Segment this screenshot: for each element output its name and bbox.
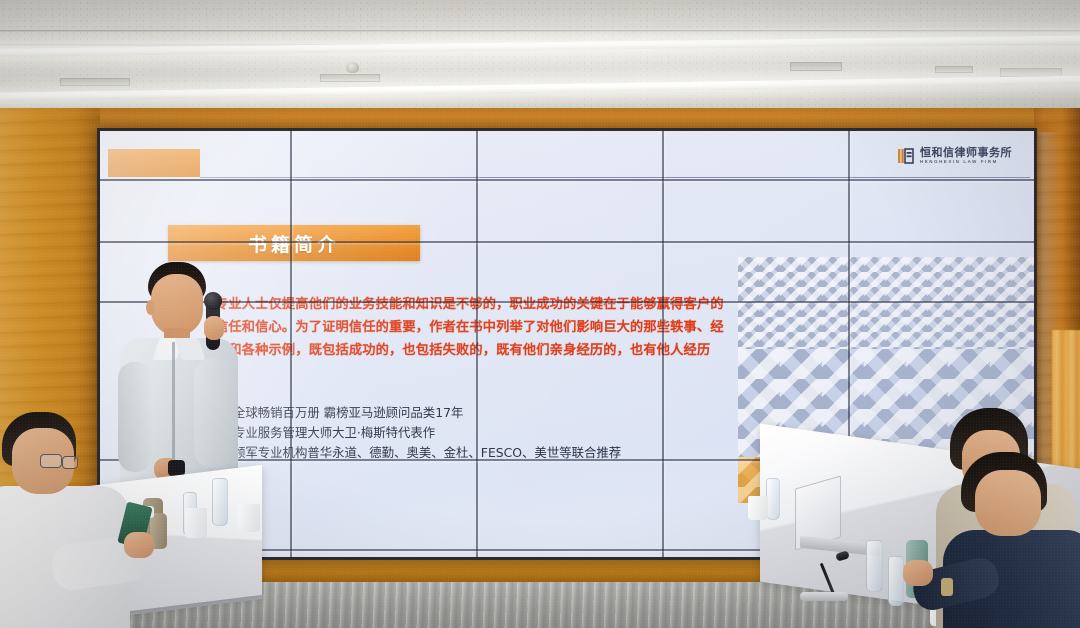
slide-header-rule (200, 177, 1030, 178)
paper-cup (748, 496, 768, 520)
geometric-pattern-fine (738, 257, 1037, 349)
microphone-base (800, 592, 848, 601)
list-item: 全球畅销百万册 霸榜亚马逊顾问品类17年 (215, 403, 775, 423)
slide-bullet-list: 全球畅销百万册 霸榜亚马逊顾问品类17年 专业服务管理大师大卫·梅斯特代表作 领… (215, 403, 775, 463)
list-item: 领军专业机构普华永道、德勤、奥美、金杜、FESCO、美世等联合推荐 (215, 443, 775, 463)
slide-title: 书籍简介 (248, 230, 340, 257)
attendee-left-hand (124, 532, 154, 558)
slide-title-banner: 书籍简介 (168, 225, 420, 261)
eyeglasses-icon (62, 456, 78, 469)
firm-logo: 恒和信律师事务所 HENGHEXIN LAW FIRM (897, 147, 1012, 165)
logo-name-en: HENGHEXIN LAW FIRM (920, 160, 1012, 164)
water-bottle (866, 540, 883, 592)
ceiling-vent (790, 62, 842, 71)
slide-corner-accent-bar (108, 149, 200, 177)
conference-room-photo: 恒和信律师事务所 HENGHEXIN LAW FIRM 书籍简介 专业人士仅提高… (0, 0, 1080, 628)
ceiling-vent (60, 78, 130, 86)
attendee-right-front-hand (903, 560, 933, 586)
microphone-head-icon (204, 292, 222, 310)
attendee-seated-left (0, 412, 144, 628)
water-bottle (888, 556, 904, 606)
ceiling-smoke-detector-icon (346, 62, 359, 73)
presenter-head (151, 274, 203, 336)
presenter-hand-right (204, 316, 224, 340)
paper-cup (185, 508, 207, 538)
logo-name-cn: 恒和信律师事务所 (920, 147, 1012, 158)
attendee-right-front-head (975, 470, 1041, 536)
ceiling-vent (320, 74, 380, 82)
water-bottle (212, 478, 228, 526)
paper-cup (238, 504, 260, 532)
presenter-ear (146, 300, 155, 315)
eyeglasses-icon (40, 454, 62, 468)
water-bottle (766, 478, 780, 520)
list-item: 专业服务管理大师大卫·梅斯特代表作 (215, 423, 775, 443)
ceiling-seam (0, 30, 1080, 32)
slide-body-text: 专业人士仅提高他们的业务技能和知识是不够的，职业成功的关键在于能够赢得客户的信任… (215, 293, 735, 385)
presenter-arm-right (194, 358, 234, 468)
attendee-seated-right-front (955, 452, 1080, 628)
wristwatch (941, 578, 953, 596)
logo-text-block: 恒和信律师事务所 HENGHEXIN LAW FIRM (920, 147, 1012, 164)
logo-bar-mark-icon (897, 147, 915, 165)
ceiling (0, 0, 1080, 112)
ceiling-vent (935, 66, 973, 73)
